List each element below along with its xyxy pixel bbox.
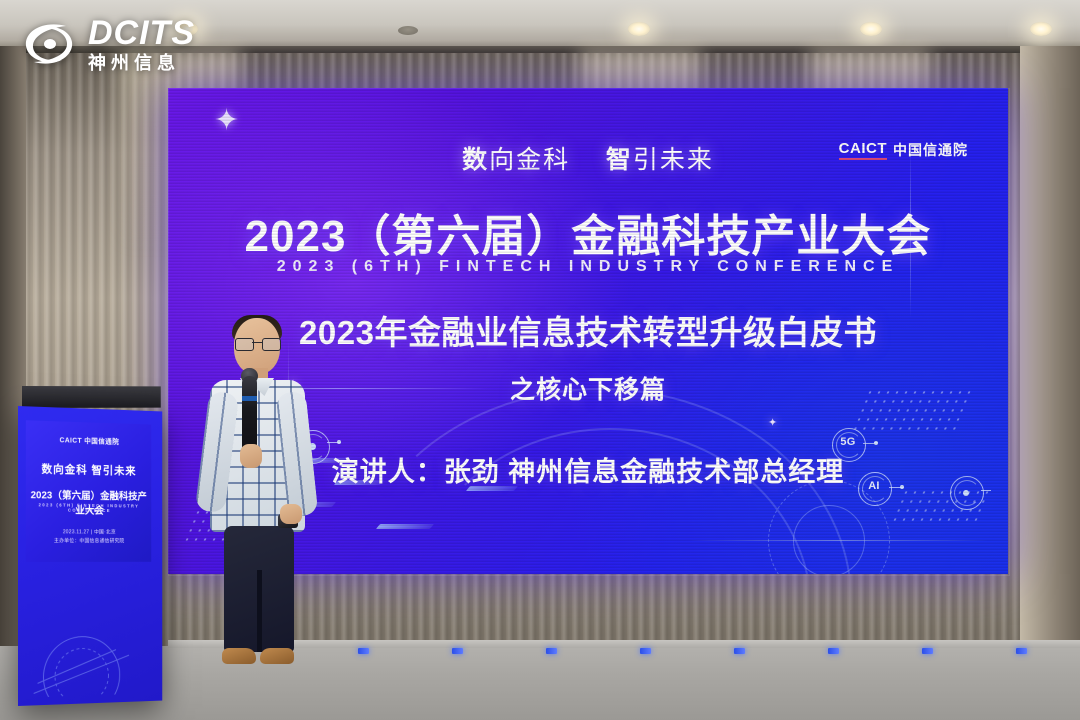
presenter-right-hand — [280, 504, 302, 524]
tagline-rest-1: 向金科 — [489, 146, 570, 174]
dcits-watermark: DCITS 神州信息 — [22, 16, 195, 72]
badge-node — [337, 440, 341, 444]
floor-marker-light — [640, 648, 651, 654]
dcits-brand-cn: 神州信息 — [88, 54, 195, 72]
conference-stage-photo: ✦ ✦ ✦ 5G AI — [0, 0, 1080, 720]
dcits-swirl-logo-icon — [22, 18, 78, 70]
eyeglasses-icon — [235, 338, 279, 349]
podium-branding-panel: CAICT 中国信通院 数向金科 智引未来 2023（第六届）金融科技产业大会 … — [26, 420, 151, 562]
ceiling-vent — [398, 26, 418, 35]
screen-tagline: 数向金科 智引未来 — [168, 140, 1008, 176]
badge-node — [963, 490, 969, 496]
wall-right — [1020, 46, 1080, 646]
floor-marker-light — [922, 648, 933, 654]
podium-caict-logo: CAICT 中国信通院 — [26, 434, 151, 448]
presenter-figure — [196, 318, 316, 688]
floor-marker-light — [358, 648, 369, 654]
podium-meta-organizer: 主办单位：中国信息通信研究院 — [26, 537, 151, 546]
floor-marker-light — [1016, 648, 1027, 654]
floor-marker-light — [546, 648, 557, 654]
tagline-char-1: 数 — [462, 146, 489, 174]
dcits-watermark-text: DCITS 神州信息 — [88, 16, 195, 72]
sparkle-icon: ✦ — [768, 418, 777, 429]
podium-tagline: 数向金科 智引未来 — [26, 460, 151, 478]
screen-line-decor — [688, 540, 988, 541]
podium-english-title: 2023 (6TH) FINTECH INDUSTRY CONFERENCE — [26, 502, 151, 513]
conference-main-title: 2023（第六届）金融科技产业大会 — [168, 200, 1008, 264]
glasses-lens-right — [262, 338, 281, 351]
trouser-leg-split — [257, 570, 262, 652]
conference-english-title: 2023 (6TH) FINTECH INDUSTRY CONFERENCE — [168, 258, 1008, 276]
badge-5g-label: 5G — [830, 436, 866, 448]
podium-top-surface — [22, 386, 161, 408]
presenter-left-shoe — [222, 648, 256, 664]
ceiling-downlight — [860, 22, 882, 36]
presenter-left-hand — [240, 444, 262, 468]
ceiling-downlight — [628, 22, 650, 36]
glasses-bridge — [252, 342, 262, 343]
podium-event-meta: 2023.11.27 | 中国·北京 主办单位：中国信息通信研究院 — [26, 528, 151, 546]
dcits-brand-en: DCITS — [88, 16, 195, 50]
floor-marker-light — [734, 648, 745, 654]
floor-marker-light — [452, 648, 463, 654]
podium: CAICT 中国信通院 数向金科 智引未来 2023（第六届）金融科技产业大会 … — [18, 406, 162, 706]
tagline-char-2: 智 — [606, 146, 633, 174]
sparkle-icon: ✦ — [214, 106, 239, 136]
microphone-band — [242, 396, 257, 401]
ceiling-downlight — [1030, 22, 1052, 36]
floor-marker-light — [828, 648, 839, 654]
presenter-right-shoe — [260, 648, 294, 664]
glasses-lens-left — [235, 338, 254, 351]
badge-node — [874, 441, 878, 445]
tagline-rest-2: 引未来 — [633, 146, 714, 174]
badge-wire — [981, 490, 991, 491]
podium-decor-icon — [24, 606, 138, 697]
screen-bar-decor — [376, 524, 434, 529]
